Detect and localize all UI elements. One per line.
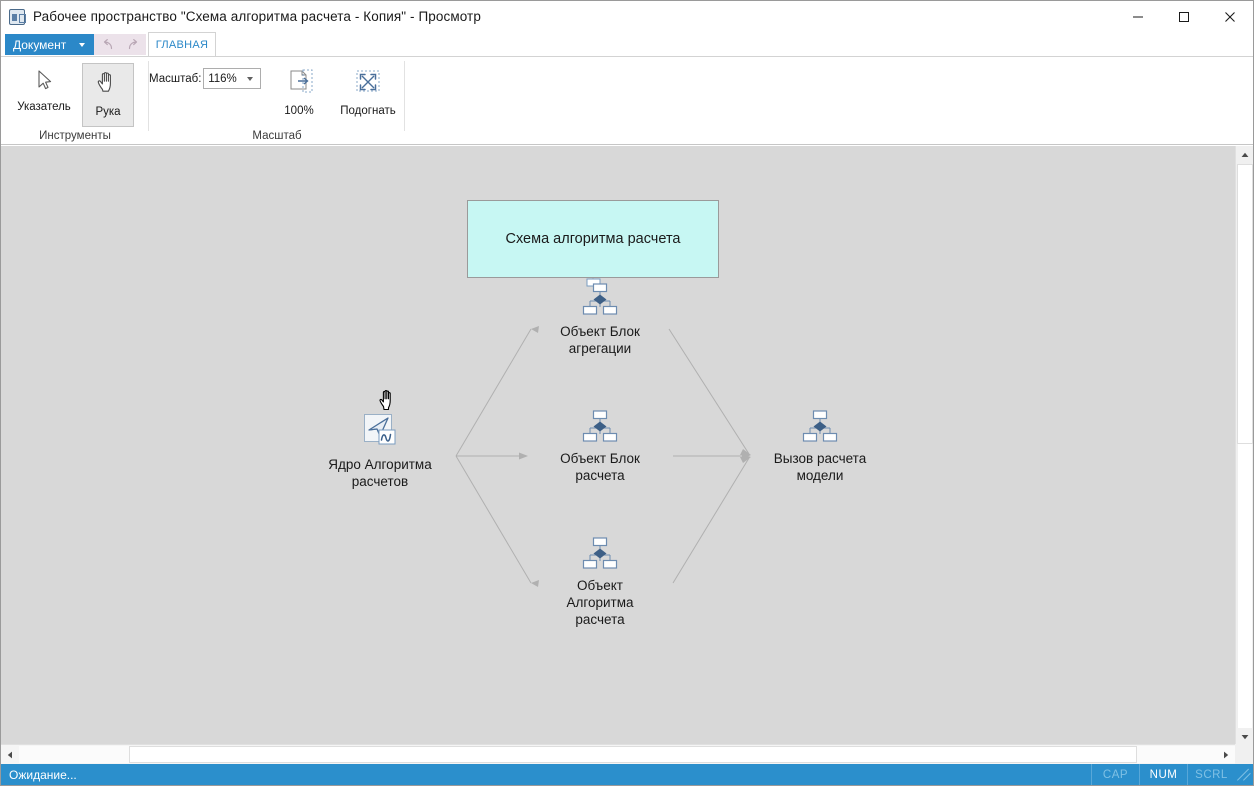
ribbon: Указатель Рука Инструменты Масштаб: 116%: [1, 57, 1253, 145]
hierarchy-icon: [743, 409, 897, 447]
redo-arrow-icon[interactable]: [126, 38, 141, 51]
chevron-down-icon: [79, 43, 85, 47]
tab-glavnaya[interactable]: ГЛАВНАЯ: [148, 32, 216, 57]
application-window: Рабочее пространство "Схема алгоритма ра…: [0, 0, 1254, 786]
connector-core-to-calcalgorithm: [456, 456, 531, 583]
undo-arrow-icon[interactable]: [100, 38, 115, 51]
ribbon-group-tools: Указатель Рука Инструменты: [1, 57, 149, 145]
tool-pointer-label: Указатель: [17, 101, 71, 113]
node-calc-algorithm[interactable]: Объект Алгоритма расчета: [523, 536, 677, 628]
zoom-100-button[interactable]: 100%: [270, 63, 328, 117]
hierarchy-icon: [523, 282, 677, 320]
status-badge-cap: CAP: [1091, 764, 1139, 785]
connector-aggregation-to-call: [669, 329, 749, 454]
title-bar: Рабочее пространство "Схема алгоритма ра…: [1, 1, 1253, 32]
ribbon-group-zoom-label: Масштаб: [149, 130, 405, 142]
resize-grip-icon[interactable]: [1235, 764, 1253, 785]
hierarchy-icon: [523, 409, 677, 447]
zoom-100-label: 100%: [284, 105, 313, 117]
zoom-combobox[interactable]: 116%: [203, 68, 261, 89]
zoom-label: Масштаб:: [149, 73, 201, 85]
status-indicators: CAP NUM SCRL: [1091, 764, 1253, 785]
status-badge-scrl: SCRL: [1187, 764, 1235, 785]
horizontal-scrollbar[interactable]: [1, 744, 1253, 764]
diagram-canvas[interactable]: Схема алгоритма расчета Ядро Алгоритма р…: [1, 146, 1253, 746]
maximize-button[interactable]: [1161, 1, 1207, 32]
pointer-icon: [31, 67, 57, 98]
quick-access-toolbar: [94, 34, 146, 55]
document-menu-label: Документ: [13, 38, 66, 52]
scrollbar-corner: [1235, 744, 1253, 764]
group-separator: [404, 61, 405, 131]
close-button[interactable]: [1207, 1, 1253, 32]
tool-hand-label: Рука: [95, 106, 120, 118]
diagram-title-text: Схема алгоритма расчета: [505, 231, 680, 247]
window-controls: [1115, 1, 1253, 32]
ribbon-group-zoom: Масштаб: 116% 100%: [149, 57, 405, 145]
tool-pointer-button[interactable]: Указатель: [13, 63, 75, 117]
tab-label: ГЛАВНАЯ: [156, 39, 209, 51]
ribbon-group-tools-label: Инструменты: [1, 130, 149, 142]
node-label: Объект Алгоритма расчета: [566, 578, 633, 627]
node-aggregation-block[interactable]: Объект Блок агрегации: [523, 282, 677, 357]
workspace-icon: [9, 9, 25, 25]
node-label: Объект Блок агрегации: [560, 324, 640, 356]
window-title: Рабочее пространство "Схема алгоритма ра…: [33, 9, 481, 24]
status-message: Ожидание...: [9, 768, 77, 782]
status-badge-num: NUM: [1139, 764, 1187, 785]
node-algorithm-core[interactable]: Ядро Алгоритма расчетов: [301, 411, 459, 490]
hscroll-track-left[interactable]: [19, 746, 129, 763]
zoom-100-icon: [284, 67, 314, 102]
hscroll-thumb[interactable]: [129, 746, 1137, 763]
node-calc-block[interactable]: Объект Блок расчета: [523, 409, 677, 484]
connector-core-to-aggregation: [456, 329, 531, 456]
hand-cursor: [377, 387, 399, 418]
node-label: Ядро Алгоритма расчетов: [328, 457, 431, 489]
scroll-up-button[interactable]: [1236, 146, 1254, 164]
fit-page-button[interactable]: Подогнать: [332, 63, 404, 117]
vscroll-thumb[interactable]: [1237, 164, 1253, 444]
zoom-value: 116%: [204, 73, 247, 85]
fit-page-icon: [353, 67, 383, 102]
tool-hand-button[interactable]: Рука: [82, 63, 134, 127]
chevron-down-icon: [247, 77, 253, 81]
status-bar: Ожидание... CAP NUM SCRL: [1, 764, 1253, 785]
node-model-calc-call[interactable]: Вызов расчета модели: [743, 409, 897, 484]
hand-icon: [93, 68, 123, 103]
diagram-surface[interactable]: Схема алгоритма расчета Ядро Алгоритма р…: [1, 146, 1233, 746]
node-label: Объект Блок расчета: [560, 451, 640, 483]
hierarchy-icon: [523, 536, 677, 574]
tab-strip: Документ ГЛАВНАЯ: [1, 32, 1253, 57]
node-label: Вызов расчета модели: [774, 451, 866, 483]
fit-page-label: Подогнать: [340, 105, 395, 117]
vertical-scrollbar[interactable]: [1235, 146, 1253, 746]
minimize-button[interactable]: [1115, 1, 1161, 32]
document-menu-button[interactable]: Документ: [5, 34, 94, 55]
scroll-left-button[interactable]: [1, 745, 19, 764]
connector-calcalgorithm-to-call: [673, 458, 749, 583]
diagram-title-box[interactable]: Схема алгоритма расчета: [467, 200, 719, 278]
scroll-right-button[interactable]: [1217, 745, 1235, 764]
